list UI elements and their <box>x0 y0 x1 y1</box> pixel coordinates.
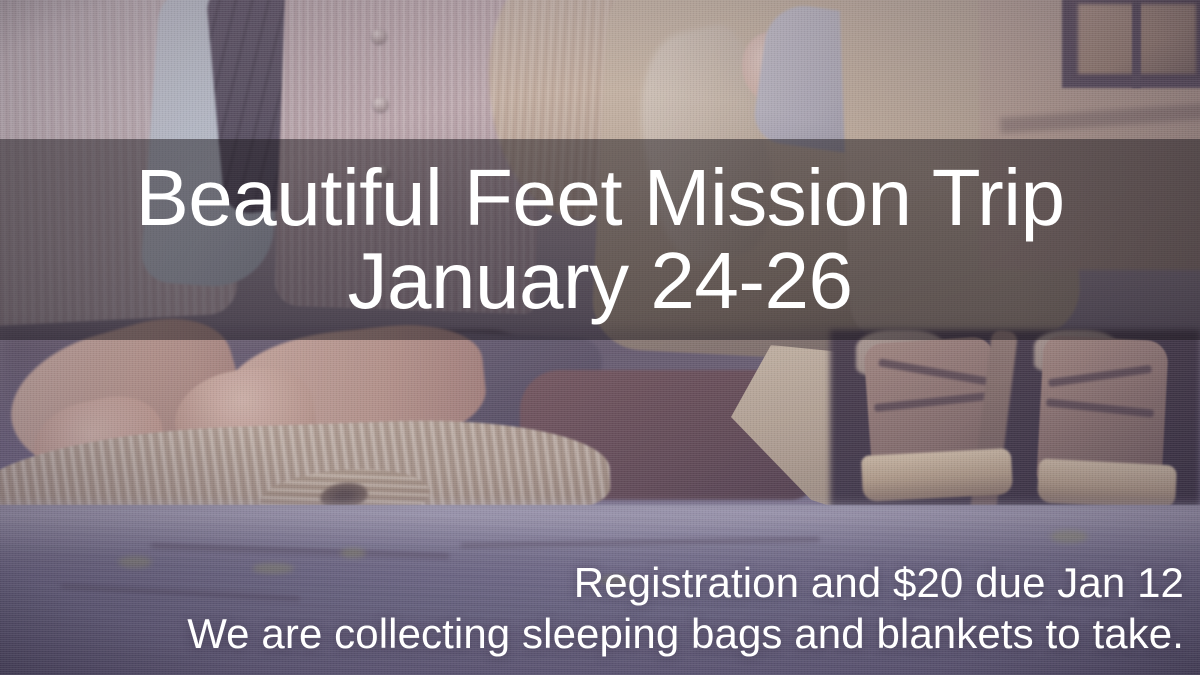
details-line-1: Registration and $20 due Jan 12 <box>187 557 1184 608</box>
details-block: Registration and $20 due Jan 12 We are c… <box>187 557 1184 659</box>
mission-trip-poster: Beautiful Feet Mission Trip January 24-2… <box>0 0 1200 675</box>
headline-line-1: Beautiful Feet Mission Trip <box>135 159 1064 237</box>
headline-band: Beautiful Feet Mission Trip January 24-2… <box>0 139 1200 340</box>
details-line-2: We are collecting sleeping bags and blan… <box>187 608 1184 659</box>
headline-line-2: January 24-26 <box>348 242 853 320</box>
